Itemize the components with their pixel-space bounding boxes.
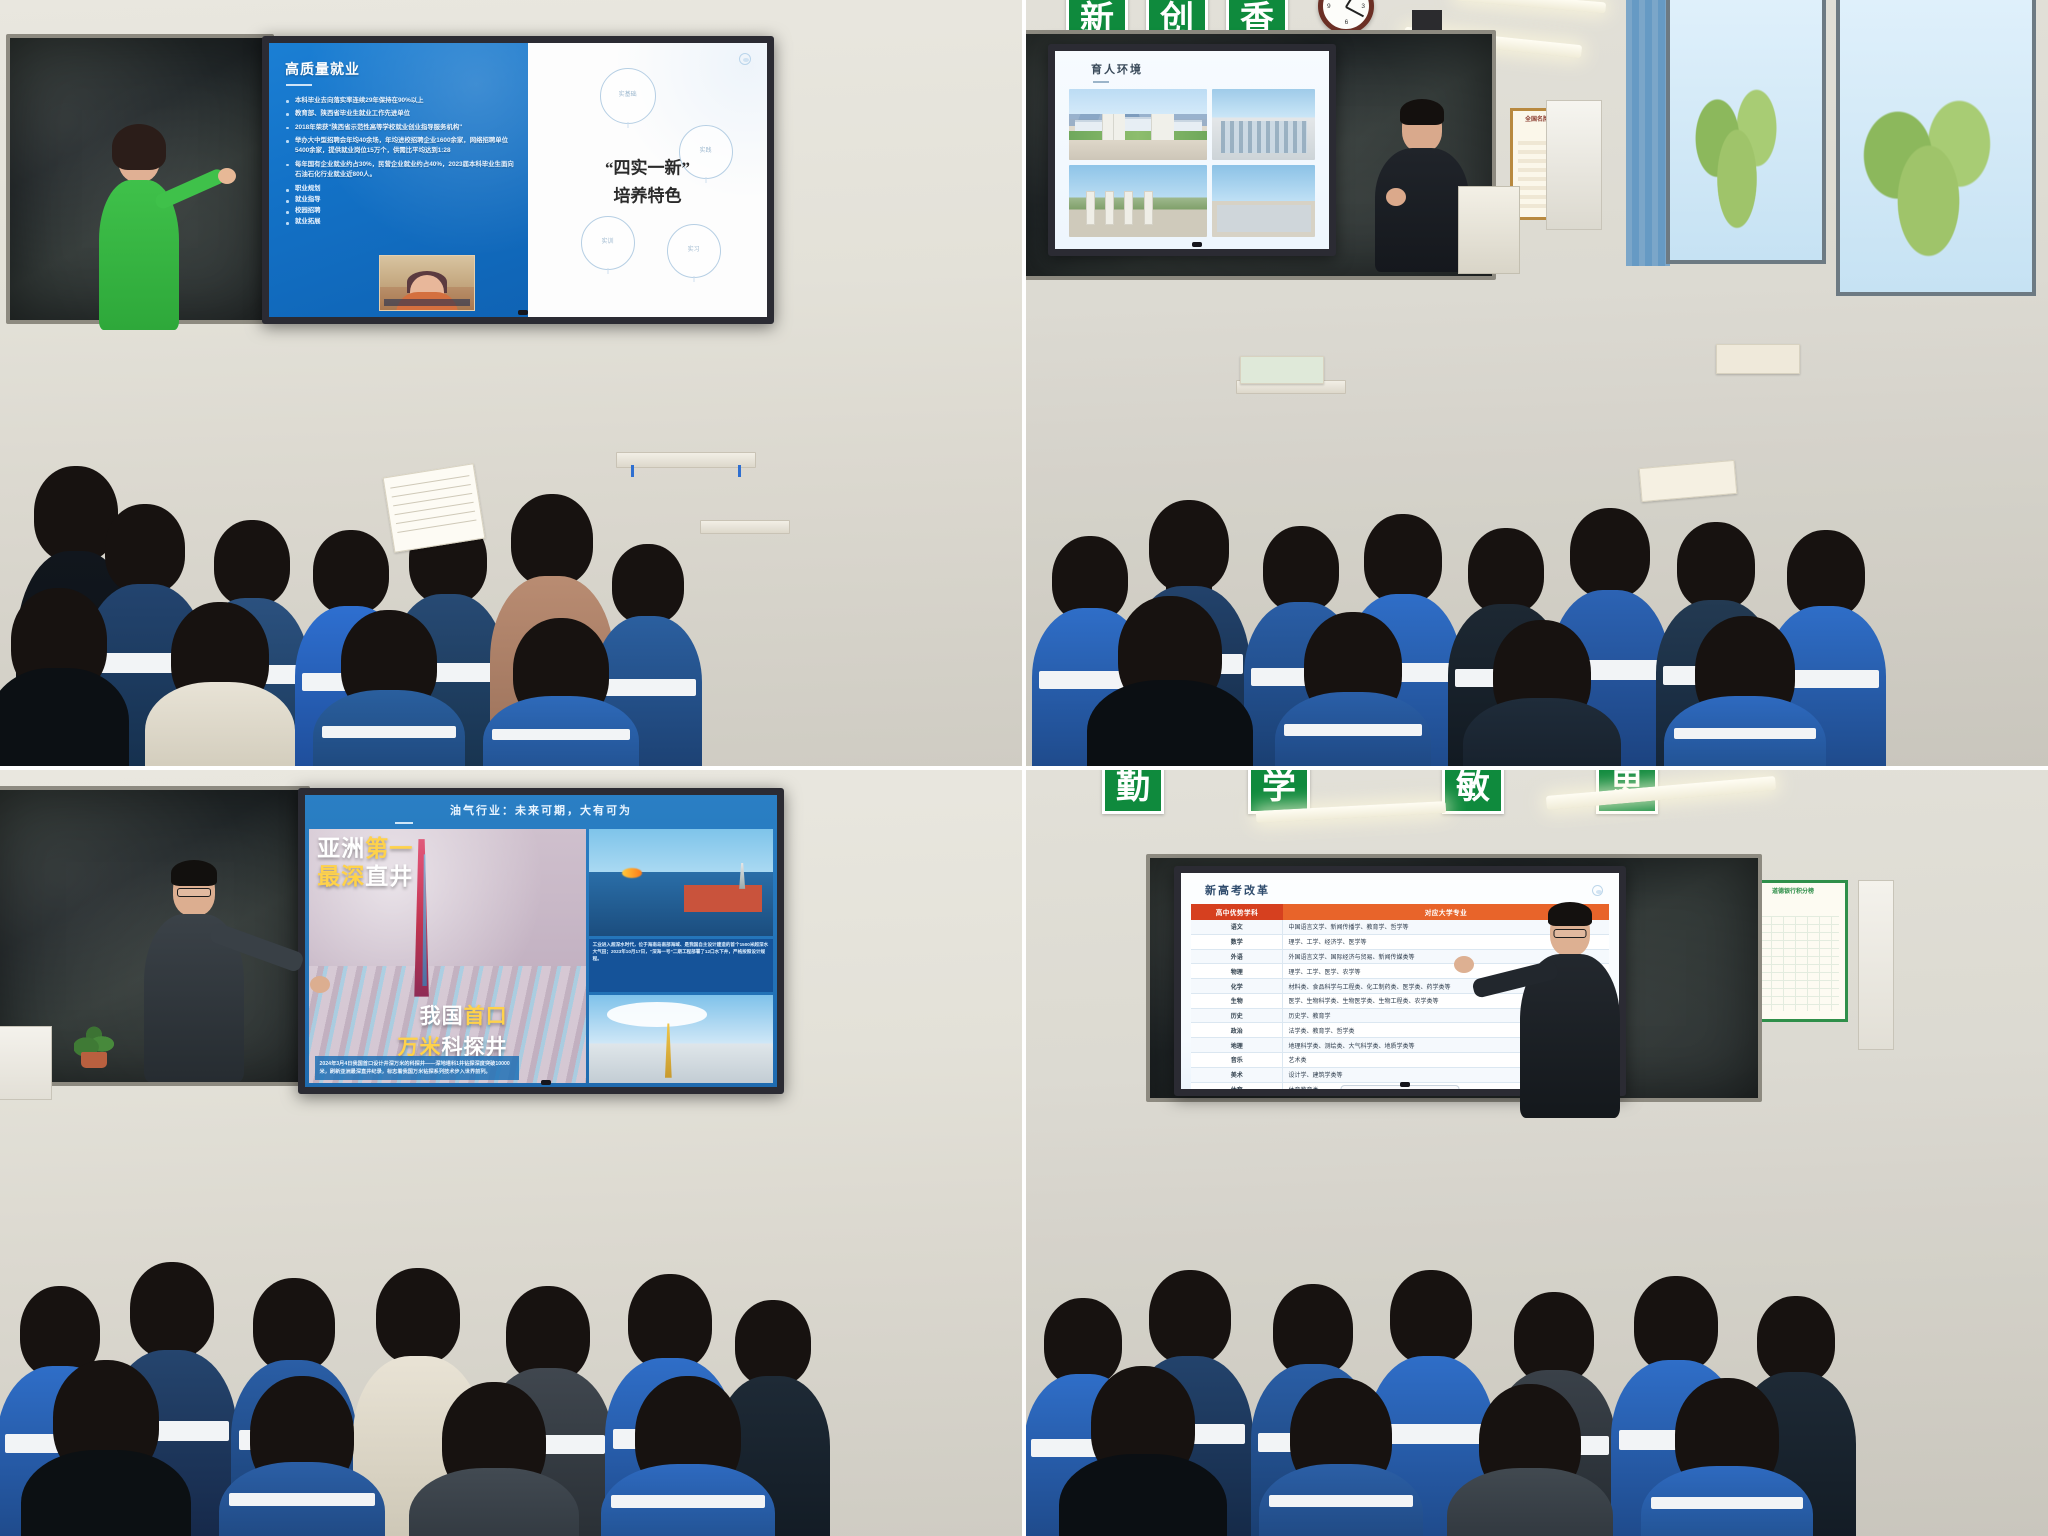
teacher-hair: [112, 124, 166, 170]
bullet-item: 本科毕业去向落实率连续29年保持在90%以上: [285, 96, 516, 106]
teacher-presenter: [146, 866, 242, 1082]
student-desk: [616, 452, 756, 468]
slide-oil-gas-industry: 油气行业：未来可期，大有可为 亚洲第一 最深直井 我国首口 万米科探井 2024…: [305, 795, 777, 1087]
title-rule: [1093, 81, 1109, 83]
glasses-icon: [177, 888, 211, 897]
annotation-toolbar[interactable]: ➚ ✎ ▫ ⚲ ☐ ▦ ⇗ ☷: [1341, 1085, 1460, 1096]
cursor-icon[interactable]: ➚: [1347, 1088, 1356, 1096]
slide-campus-environment: 育人环境: [1055, 51, 1329, 249]
center-line-1: “四实一新”: [605, 154, 690, 179]
student-book: [1716, 344, 1800, 374]
clock-number: 3: [1361, 3, 1365, 10]
wall-cabinet: [0, 1026, 52, 1100]
title-rule: [395, 822, 413, 824]
slide-title: 油气行业：未来可期，大有可为: [305, 795, 777, 818]
slide-title: 高质量就业: [285, 59, 516, 79]
glasses-icon: [1554, 929, 1587, 938]
smartboard-display[interactable]: 高质量就业 本科毕业去向落实率连续29年保持在90%以上 教育部、陕西省毕业生就…: [262, 36, 774, 324]
feature-bubble: 实基础: [600, 68, 656, 124]
wall-sign: 学: [1248, 770, 1310, 814]
slide-title: 新高考改革: [1205, 882, 1609, 898]
title-rule: [286, 84, 312, 86]
classroom-window: [1666, 0, 1826, 264]
bezel-sensor-icon: [541, 1080, 551, 1085]
side-photo-column: 工业进入超深水时代，位于海南岛南部海域、是我国自主设计建造的首个1500米超深水…: [589, 829, 773, 1083]
column-header-subject: 高中优势学科: [1191, 904, 1283, 920]
more-icon[interactable]: ☷: [1445, 1088, 1454, 1096]
smartboard-display[interactable]: 育人环境: [1048, 44, 1336, 256]
cell-subject: 外语: [1191, 949, 1283, 964]
bezel-sensor-icon: [1400, 1082, 1410, 1087]
campus-photo-grid: [1065, 89, 1319, 239]
headline-asia-first: 亚洲第一: [317, 837, 413, 860]
slide-body: 亚洲第一 最深直井 我国首口 万米科探井 2024年3月4日我国首口设计井深万米…: [305, 829, 777, 1087]
teacher-hand: [1386, 188, 1406, 206]
sub-bullet-item: 就业指导: [285, 195, 516, 206]
sub-bullet-item: 就业拓展: [285, 217, 516, 228]
classroom-window: [1836, 0, 2036, 296]
panel-top-left: 高质量就业 本科毕业去向落实率连续29年保持在90%以上 教育部、陕西省毕业生就…: [0, 0, 1022, 766]
center-line-2: 培养特色: [605, 182, 690, 207]
bullet-item: 2018年荣获"陕西省示范性高等学校就业创业指导服务机构": [285, 123, 516, 133]
wall-signs: 勤 学: [1102, 770, 1310, 814]
student-handout: [383, 463, 486, 552]
sub-bullet-item: 职业规划: [285, 184, 516, 195]
campus-photo: [1212, 89, 1315, 161]
slide-title: 育人环境: [1091, 61, 1319, 77]
teacher-hair: [1548, 902, 1592, 926]
slide-right-column: 实基础 实践 实训 实习 “四实一新” 培养特色: [528, 43, 767, 317]
smartboard-display[interactable]: 油气行业：未来可期，大有可为 亚洲第一 最深直井 我国首口 万米科探井 2024…: [298, 788, 784, 1094]
teacher-presenter: [96, 130, 182, 330]
bezel-sensor-icon: [518, 310, 528, 315]
university-logo-icon: [1592, 885, 1603, 896]
slide-high-quality-employment: 高质量就业 本科毕业去向落实率连续29年保持在90%以上 教育部、陕西省毕业生就…: [269, 43, 767, 317]
lectern: [1458, 186, 1520, 274]
cell-subject: 体育: [1191, 1082, 1283, 1096]
side-caption: 工业进入超深水时代，位于海南岛南部海域、是我国自主设计建造的首个1500米超深水…: [589, 939, 773, 993]
cell-subject: 数学: [1191, 934, 1283, 949]
wall-sign: 勤: [1102, 770, 1164, 814]
cell-subject: 历史: [1191, 1008, 1283, 1023]
photo-collage: 高质量就业 本科毕业去向落实率连续29年保持在90%以上 教育部、陕西省毕业生就…: [0, 0, 2048, 1536]
cell-subject: 生物: [1191, 993, 1283, 1008]
teacher-hair: [171, 860, 217, 886]
cell-subject: 语文: [1191, 920, 1283, 934]
cell-subject: 政治: [1191, 1023, 1283, 1038]
panel-bottom-right: 勤 学 敏 思 距高考还剩 加油 2 0 3 天 道德银行积分榜: [1026, 770, 2048, 1536]
student-desk: [700, 520, 790, 534]
bullet-item: 举办大中型招聘会年均40余场，年均进校招聘企业1600余家，网络招聘单位5400…: [285, 136, 516, 156]
bezel-sensor-icon: [1192, 242, 1202, 247]
clock-number: 9: [1327, 3, 1331, 10]
campus-photo: [1069, 165, 1207, 237]
wall-sign: 敏: [1442, 770, 1504, 814]
cell-subject: 美术: [1191, 1067, 1283, 1082]
zoom-icon[interactable]: ⚲: [1389, 1088, 1398, 1096]
teacher-presenter: [1378, 104, 1466, 272]
teacher-body: [1375, 148, 1469, 272]
teacher-hand: [1454, 956, 1474, 973]
slide-caption: 2024年3月4日我国首口设计井深万米的科探井——深地塔科1井钻探深度突破100…: [315, 1056, 520, 1080]
campus-photo: [1069, 89, 1207, 161]
headline-ten-thousand-meter: 万米科探井: [398, 1037, 508, 1058]
sub-bullet-item: 校园招聘: [285, 206, 516, 217]
bullet-list: 本科毕业去向落实率连续29年保持在90%以上 教育部、陕西省毕业生就业工作先进单…: [285, 96, 516, 179]
feature-bubble: 实习: [667, 224, 721, 278]
feature-bubble: 实训: [581, 216, 635, 270]
clock-number: 6: [1345, 19, 1349, 26]
panel-bottom-left: 油气行业：未来可期，大有可为 亚洲第一 最深直井 我国首口 万米科探井 2024…: [0, 770, 1022, 1536]
student-book: [1240, 356, 1324, 384]
headline-china-first: 我国首口: [420, 1006, 508, 1027]
slide-center-label: “四实一新” 培养特色: [605, 154, 690, 207]
select-icon[interactable]: ☐: [1403, 1088, 1412, 1096]
sub-bullet-list: 职业规划 就业指导 校园招聘 就业拓展: [285, 184, 516, 228]
cell-subject: 音乐: [1191, 1053, 1283, 1068]
teacher-hair: [1400, 99, 1444, 125]
bullet-item: 教育部、陕西省毕业生就业工作先进单位: [285, 109, 516, 119]
eraser-icon[interactable]: ▫: [1375, 1088, 1384, 1096]
campus-photo: [1212, 165, 1315, 237]
teacher-hand: [218, 168, 236, 184]
offshore-platform-photo: [589, 829, 773, 936]
pen-icon[interactable]: ✎: [1361, 1088, 1370, 1096]
cell-subject: 地理: [1191, 1038, 1283, 1053]
window-curtain: [1626, 0, 1670, 266]
university-logo-icon: [739, 53, 751, 65]
panel-top-right: 新 创 香 12 3 6 9 全国名牌大学分布图 育人环境: [1026, 0, 2048, 766]
slide-left-column: 高质量就业 本科毕业去向落实率连续29年保持在90%以上 教育部、陕西省毕业生就…: [269, 43, 528, 317]
keyboard-icon[interactable]: ▦: [1417, 1088, 1426, 1096]
wall-cabinet: [1858, 880, 1894, 1050]
bullet-item: 每年国有企业就业约占30%，民营企业就业约占40%，2023届本科毕业生面向石油…: [285, 160, 516, 180]
potted-plant: [64, 1016, 124, 1068]
cell-subject: 化学: [1191, 979, 1283, 994]
share-icon[interactable]: ⇗: [1431, 1088, 1440, 1096]
teacher-hand: [310, 976, 330, 993]
teacher-presenter: [1524, 908, 1616, 1118]
headline-deepest-well: 最深直井: [317, 865, 413, 888]
slide-video-thumbnail: [379, 255, 475, 311]
water-dispenser: [1546, 100, 1602, 230]
derrick-photo: [589, 995, 773, 1083]
cell-subject: 物理: [1191, 964, 1283, 979]
drilling-rig-photo: 亚洲第一 最深直井 我国首口 万米科探井 2024年3月4日我国首口设计井深万米…: [309, 829, 586, 1083]
